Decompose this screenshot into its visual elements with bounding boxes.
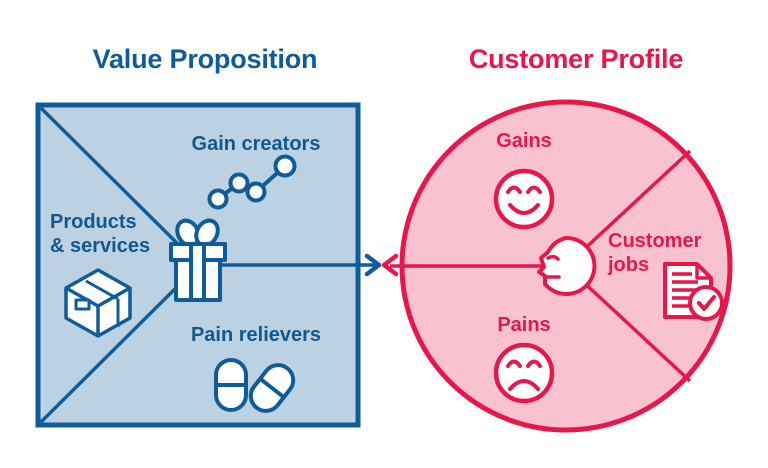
label-products-services-line2: & services bbox=[50, 235, 150, 257]
value-proposition-canvas-diagram: Value Proposition Customer Profile Gain … bbox=[0, 0, 768, 468]
label-pains: Pains bbox=[497, 314, 550, 336]
label-products-services-line1: Products bbox=[50, 211, 137, 233]
customer-profile-title: Customer Profile bbox=[469, 44, 684, 74]
smiley-sad-icon bbox=[496, 345, 552, 401]
smiley-happy-icon bbox=[496, 171, 552, 227]
label-gain-creators: Gain creators bbox=[192, 133, 321, 155]
label-gains: Gains bbox=[496, 130, 552, 152]
label-customer-jobs-line2: jobs bbox=[607, 254, 649, 276]
customer-profile-circle-group: Gains Customer jobs Pains bbox=[390, 102, 730, 430]
value-proposition-title: Value Proposition bbox=[93, 44, 318, 74]
gift-icon bbox=[171, 217, 225, 300]
label-customer-jobs-line1: Customer bbox=[608, 230, 702, 252]
value-proposition-square-group: Gain creators Products & services Pain r… bbox=[38, 105, 380, 425]
label-pain-relievers: Pain relievers bbox=[191, 324, 321, 346]
